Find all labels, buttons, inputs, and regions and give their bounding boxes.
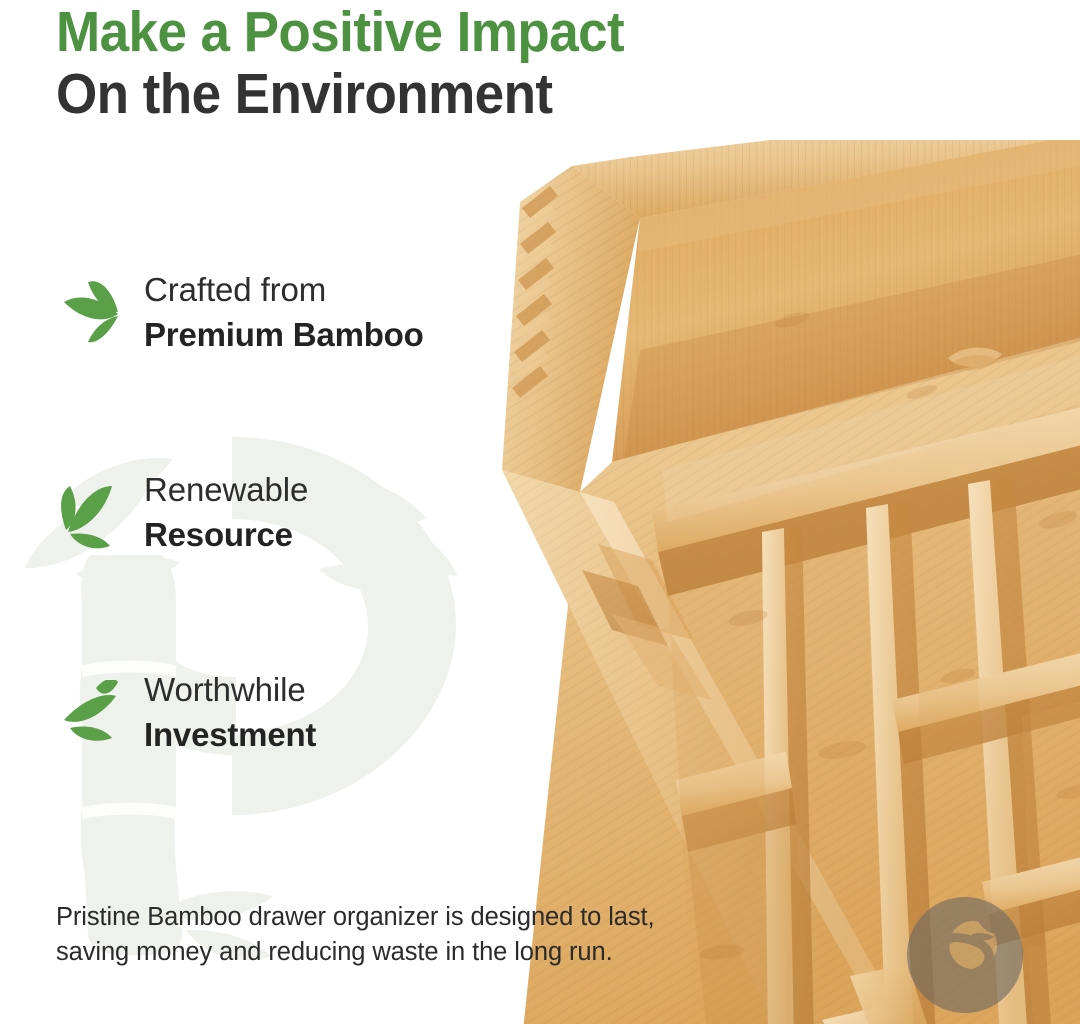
bamboo-drawer-organizer-photo	[462, 140, 1080, 1024]
list-item: Crafted from Premium Bamboo	[52, 268, 522, 468]
bamboo-leaf-icon	[52, 480, 126, 550]
list-item-text: Crafted from Premium Bamboo	[144, 268, 424, 358]
page-title: Make a Positive Impact On the Environmen…	[56, 0, 667, 123]
feature-list: Crafted from Premium Bamboo Renewable Re…	[52, 268, 522, 868]
caption-line-2: saving money and reducing waste in the l…	[56, 935, 796, 970]
caption-line-1: Pristine Bamboo drawer organizer is desi…	[56, 900, 796, 935]
headline-line-2: On the Environment	[56, 61, 624, 123]
list-item-top-label: Worthwhile	[144, 668, 316, 712]
list-item-bottom-label: Investment	[144, 712, 316, 758]
bamboo-leaf-icon	[52, 280, 126, 350]
list-item-top-label: Renewable	[144, 468, 308, 512]
list-item: Renewable Resource	[52, 468, 522, 668]
list-item-text: Renewable Resource	[144, 468, 308, 558]
list-item: Worthwhile Investment	[52, 668, 522, 868]
headline-line-1: Make a Positive Impact	[56, 0, 624, 61]
list-item-bottom-label: Premium Bamboo	[144, 312, 424, 358]
list-item-bottom-label: Resource	[144, 512, 308, 558]
caption: Pristine Bamboo drawer organizer is desi…	[56, 900, 796, 970]
list-item-text: Worthwhile Investment	[144, 668, 316, 758]
promotional-image: Make a Positive Impact On the Environmen…	[0, 0, 1080, 1024]
bamboo-leaf-icon	[52, 680, 126, 750]
pristine-bamboo-p-monogram-logo	[903, 893, 1028, 1018]
list-item-top-label: Crafted from	[144, 268, 424, 312]
